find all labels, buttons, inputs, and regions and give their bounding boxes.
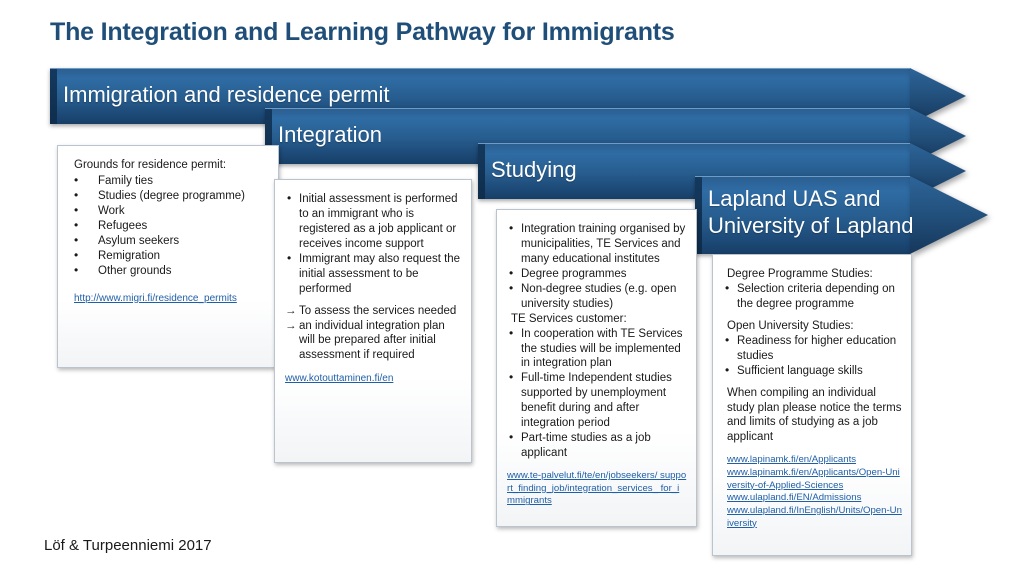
list-item: Full-time Independent studies supported … [507, 371, 687, 431]
link-te-palvelut[interactable]: www.te-palvelut.fi/te/en/jobseekers/ sup… [507, 470, 687, 508]
card-4-bullets-b: Readiness for higher education studies S… [723, 334, 902, 379]
list-item: Non-degree studies (e.g. open university… [507, 282, 687, 312]
card-lapland-content: Degree Programme Studies: Selection crit… [713, 255, 911, 538]
card-2-arrow-points: To assess the services needed an individ… [285, 304, 462, 364]
card-4-links: www.lapinamk.fi/en/Applicants www.lapina… [727, 454, 902, 530]
card-integration: Initial assessment is performed to an im… [274, 179, 472, 463]
band-4-arrowhead [910, 176, 1024, 254]
card-studying: Integration training organised by munici… [496, 209, 697, 527]
list-item: To assess the services needed [285, 304, 462, 319]
list-item: In cooperation with TE Services the stud… [507, 327, 687, 372]
band-3-label: Studying [491, 157, 577, 184]
link-migri[interactable]: http://www.migri.fi/residence_permits [74, 292, 269, 305]
list-item: Family ties [68, 174, 269, 189]
card-immigration-content: Grounds for residence permit: Family tie… [58, 146, 278, 313]
card-studying-content: Integration training organised by munici… [497, 210, 696, 516]
card-3-bullets-b: In cooperation with TE Services the stud… [507, 327, 687, 461]
card-1-bullets: Family ties Studies (degree programme) W… [68, 174, 269, 279]
card-4-heading-b: Open University Studies: [727, 319, 902, 334]
band-2-label: Integration [278, 122, 382, 149]
list-item: Integration training organised by munici… [507, 222, 687, 267]
card-1-links: http://www.migri.fi/residence_permits [74, 292, 269, 305]
pathway-band-4: Lapland UAS and University of Lapland [695, 176, 1024, 254]
band-1-label: Immigration and residence permit [63, 82, 389, 109]
card-3-links: www.te-palvelut.fi/te/en/jobseekers/ sup… [507, 470, 687, 508]
list-item: Asylum seekers [68, 234, 269, 249]
card-integration-content: Initial assessment is performed to an im… [275, 180, 471, 394]
card-2-links: www.kotouttaminen.fi/en [285, 372, 462, 385]
page-title: The Integration and Learning Pathway for… [50, 18, 675, 47]
link-lapinamk-open-uas[interactable]: www.lapinamk.fi/en/Applicants/Open-Unive… [727, 467, 902, 492]
list-item: Refugees [68, 219, 269, 234]
card-3-midline: TE Services customer: [511, 312, 687, 327]
card-4-bullets-a: Selection criteria depending on the degr… [723, 282, 902, 312]
list-item: Remigration [68, 249, 269, 264]
band-4-label: Lapland UAS and University of Lapland [708, 186, 913, 240]
list-item: Part-time studies as a job applicant [507, 431, 687, 461]
list-item: Other grounds [68, 264, 269, 279]
card-1-lead: Grounds for residence permit: [74, 158, 269, 173]
link-lapinamk-applicants[interactable]: www.lapinamk.fi/en/Applicants [727, 454, 902, 467]
list-item: Initial assessment is performed to an im… [285, 192, 462, 252]
list-item: Studies (degree programme) [68, 189, 269, 204]
list-item: an individual integration plan will be p… [285, 319, 462, 364]
list-item: Work [68, 204, 269, 219]
card-lapland: Degree Programme Studies: Selection crit… [712, 254, 912, 556]
card-immigration: Grounds for residence permit: Family tie… [57, 145, 279, 368]
link-ulapland-admissions[interactable]: www.ulapland.fi/EN/Admissions [727, 492, 902, 505]
card-4-heading-a: Degree Programme Studies: [727, 267, 902, 282]
list-item: Immigrant may also request the initial a… [285, 252, 462, 297]
card-2-bullets: Initial assessment is performed to an im… [285, 192, 462, 297]
list-item: Readiness for higher education studies [723, 334, 902, 364]
link-kotouttaminen[interactable]: www.kotouttaminen.fi/en [285, 372, 462, 385]
card-3-bullets-a: Integration training organised by munici… [507, 222, 687, 312]
list-item: Degree programmes [507, 267, 687, 282]
footer-credit: Löf & Turpeenniemi 2017 [44, 537, 212, 554]
list-item: Selection criteria depending on the degr… [723, 282, 902, 312]
list-item: Sufficient language skills [723, 364, 902, 379]
card-4-note: When compiling an individual study plan … [727, 386, 902, 446]
link-ulapland-open-university[interactable]: www.ulapland.fi/InEnglish/Units/Open-Uni… [727, 505, 902, 530]
